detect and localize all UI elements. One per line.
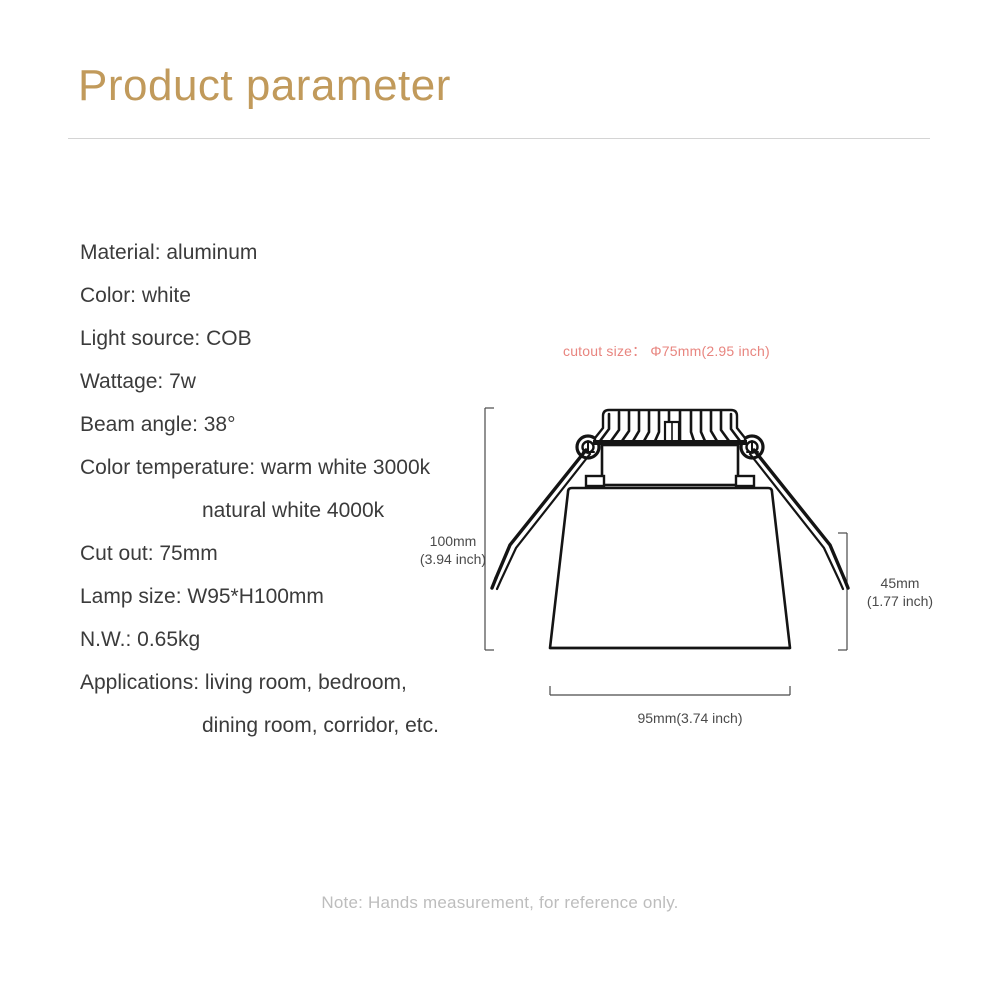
dimension-label-width: 95mm(3.74 inch) [575,709,805,727]
lamp-body [586,445,754,486]
page-title: Product parameter [78,62,451,110]
dimension-label-depth: 45mm (1.77 inch) [855,574,945,610]
footer-note: Note: Hands measurement, for reference o… [0,893,1000,913]
mount-tab-left [586,476,604,486]
product-parameter-page: Product parameter Material: aluminum Col… [0,0,1000,1000]
dimension-label-height: 100mm (3.94 inch) [408,532,498,568]
lamp-body-rect [602,445,738,485]
title-divider [68,138,930,139]
reflector-housing [550,488,790,648]
dimension-depth-inch: (1.77 inch) [855,592,945,610]
dimension-height-mm: 100mm [408,532,498,550]
dimension-height-inch: (3.94 inch) [408,550,498,568]
dimension-depth-mm: 45mm [855,574,945,592]
heat-sink [593,410,747,445]
spec-item-color: Color: white [80,274,510,317]
spec-item-material: Material: aluminum [80,231,510,274]
product-technical-drawing: cutout size： Φ75mm(2.95 inch) [400,330,980,750]
mount-tab-right [736,476,754,486]
